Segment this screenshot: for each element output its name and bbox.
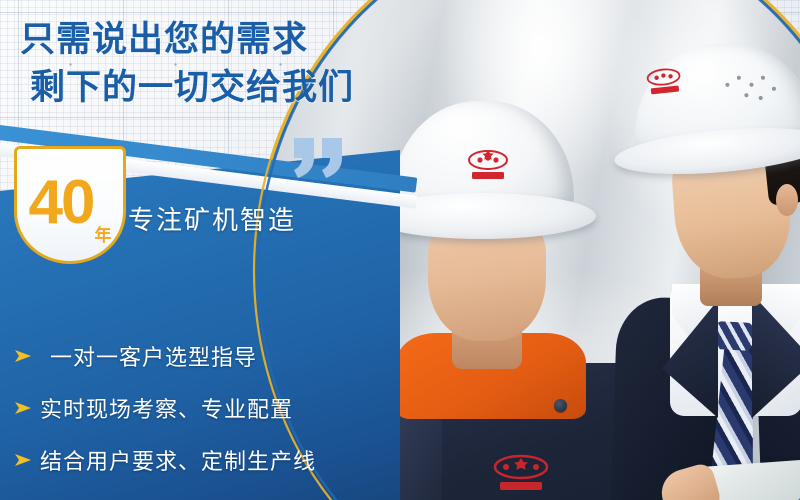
feature-item: 结合用户要求、定制生产线 (14, 434, 314, 486)
headline: 只需说出您的需求 剩下的一切交给我们 (20, 16, 440, 113)
feature-item: 实时现场考察、专业配置 (14, 382, 314, 434)
quote-mark-icon (290, 136, 348, 180)
arrow-right-icon (14, 401, 32, 415)
tagline: 专注矿机智造 (128, 200, 296, 237)
arrow-right-icon (14, 453, 32, 467)
badge-unit: 年 (94, 226, 111, 245)
badge-number: 40 (29, 168, 94, 237)
feature-label: 实时现场考察、专业配置 (40, 392, 293, 424)
anniversary-badge: 40年 (14, 146, 126, 264)
feature-item: 一对一客户选型指导 (14, 330, 314, 382)
badge-text: 40年 (14, 172, 126, 234)
feature-list: 一对一客户选型指导 实时现场考察、专业配置 结合用户要求、定制生产线 (14, 330, 314, 486)
feature-label: 一对一客户选型指导 (40, 340, 257, 372)
feature-label: 结合用户要求、定制生产线 (40, 444, 316, 476)
headline-line-1: 只需说出您的需求 (20, 16, 440, 64)
arrow-right-icon (14, 349, 32, 363)
headline-line-2: 剩下的一切交给我们 (20, 64, 440, 112)
promo-banner: 只需说出您的需求 剩下的一切交给我们 40年 专注矿机智造 一对一客户选型指导 … (0, 0, 800, 500)
